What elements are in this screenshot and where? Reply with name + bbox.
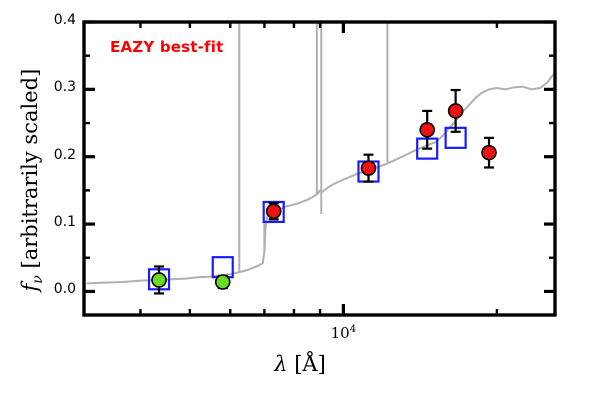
x-axis-label: λ [Å]	[0, 352, 600, 376]
x-tick-label-1: 104	[313, 324, 373, 342]
x-axis-label-unit: [Å]	[294, 352, 326, 376]
y-tick-label-5: 0.4	[30, 12, 76, 28]
figure-root: fν [arbitrarily scaled] λ [Å] EAZY best-…	[0, 0, 600, 400]
x-tick-label-exponent: 4	[350, 324, 356, 335]
y-tick-label-2: 0.1	[30, 214, 76, 230]
detected-photometry-marker-3[interactable]	[420, 123, 434, 137]
detected-photometry-marker-4[interactable]	[449, 104, 463, 118]
detected-photometry-marker-1[interactable]	[267, 204, 281, 218]
lowsn-photometry-marker-1[interactable]	[152, 273, 166, 287]
y-tick-label-3: 0.2	[30, 147, 76, 163]
detected-photometry-marker-2[interactable]	[361, 161, 375, 175]
y-axis-label-rest: [arbitrarily scaled]	[18, 69, 42, 275]
annotation-eazy-best-fit: EAZY best-fit	[110, 38, 224, 56]
plot-canvas	[0, 0, 600, 400]
x-axis-label-lambda: λ	[274, 352, 287, 376]
x-tick-label-mantissa: 10	[331, 324, 350, 342]
lowsn-photometry-marker-2[interactable]	[216, 275, 230, 289]
y-tick-label-1: 0.0	[30, 281, 76, 297]
detected-photometry-marker-5[interactable]	[482, 146, 496, 160]
y-tick-label-4: 0.3	[30, 79, 76, 95]
